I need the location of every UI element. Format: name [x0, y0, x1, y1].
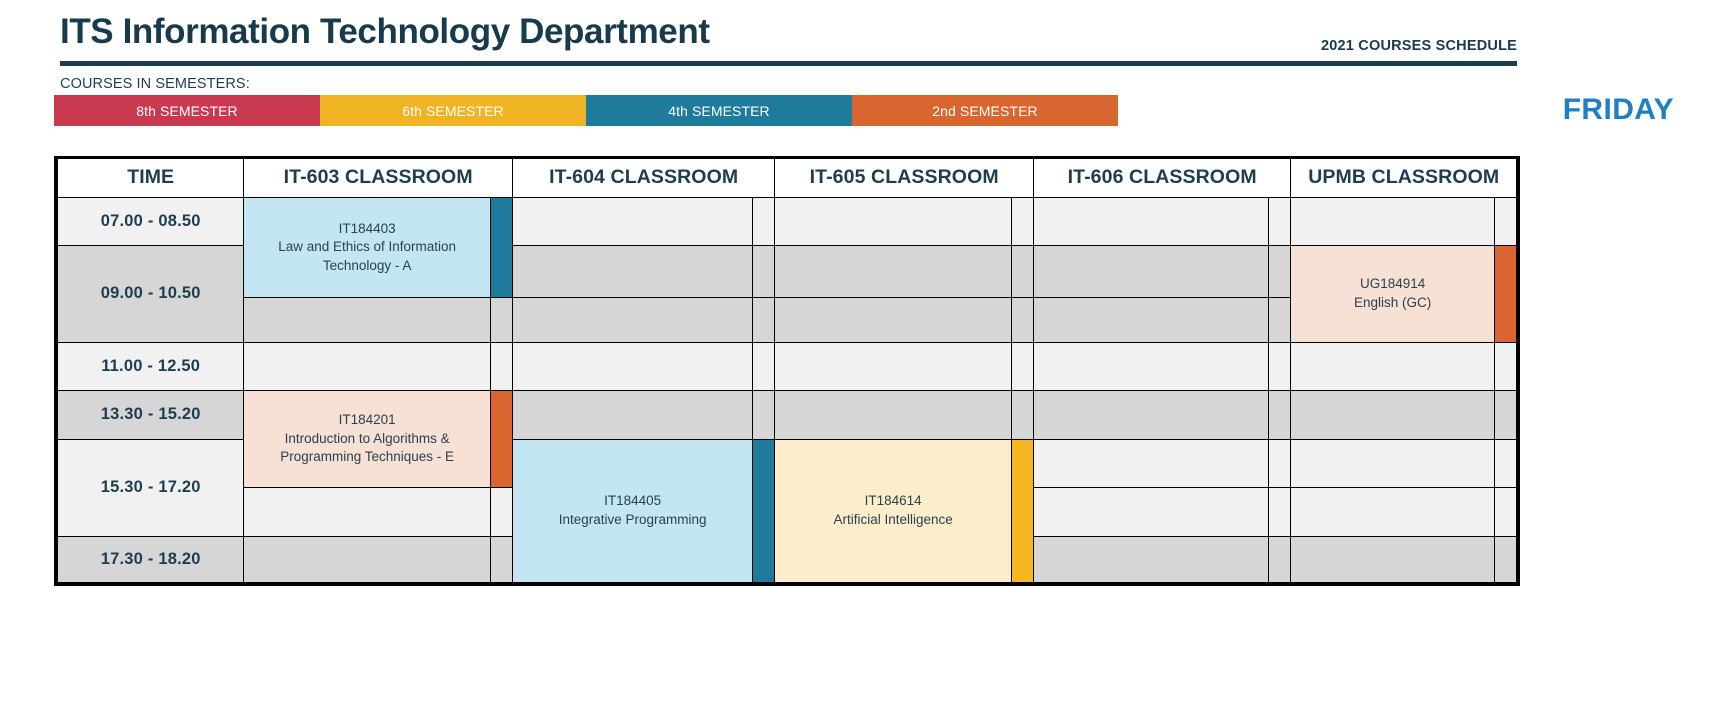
- course-code: UG184914: [1291, 275, 1493, 294]
- course-block-IT184614[interactable]: IT184614 Artificial Intelligence: [775, 439, 1011, 582]
- accent-it605-0900a: [1011, 245, 1033, 297]
- accent-it604-0700: [753, 197, 775, 245]
- page-title: ITS Information Technology Department: [60, 12, 710, 52]
- accent-it605-0700: [1011, 197, 1033, 245]
- accent-upmb-1330: [1494, 391, 1516, 439]
- column-header-upmb: UPMB CLASSROOM: [1291, 159, 1517, 197]
- slot-it603-1730[interactable]: [244, 536, 491, 582]
- course-accent-IT184201: [490, 391, 512, 488]
- legend-caption: COURSES IN SEMESTERS:: [60, 76, 250, 92]
- slot-it603-1100[interactable]: [244, 342, 491, 390]
- slot-upmb-0700[interactable]: [1291, 197, 1494, 245]
- slot-it606-0900a[interactable]: [1033, 245, 1268, 297]
- slot-it606-1100[interactable]: [1033, 342, 1268, 390]
- time-slot-1330: 13.30 - 15.20: [58, 391, 244, 439]
- accent-it606-0900b: [1269, 298, 1291, 342]
- accent-it605-1330: [1011, 391, 1033, 439]
- legend-item-4th[interactable]: 4th SEMESTER: [586, 95, 852, 126]
- course-code: IT184201: [244, 411, 490, 430]
- header-divider: [60, 61, 1517, 66]
- slot-it604-0900b[interactable]: [512, 298, 752, 342]
- schedule-table: TIME IT-603 CLASSROOM IT-604 CLASSROOM I…: [57, 159, 1517, 583]
- accent-it604-0900b: [753, 298, 775, 342]
- course-code: IT184614: [775, 492, 1010, 511]
- accent-it603-1530b: [490, 488, 512, 536]
- slot-upmb-1530b[interactable]: [1291, 488, 1494, 536]
- course-accent-UG184914: [1494, 245, 1516, 342]
- slot-it606-1530a[interactable]: [1033, 439, 1268, 487]
- table-row: 07.00 - 08.50 IT184403 Law and Ethics of…: [58, 197, 1517, 245]
- course-code: IT184405: [513, 492, 752, 511]
- accent-it606-1730: [1269, 536, 1291, 582]
- accent-it606-1100: [1269, 342, 1291, 390]
- accent-upmb-1100: [1494, 342, 1516, 390]
- course-name: English (GC): [1291, 294, 1493, 313]
- slot-it605-0700[interactable]: [775, 197, 1011, 245]
- column-header-it605: IT-605 CLASSROOM: [775, 159, 1034, 197]
- semester-legend: 8th SEMESTER 6th SEMESTER 4th SEMESTER 2…: [54, 95, 1118, 126]
- slot-it606-0700[interactable]: [1033, 197, 1268, 245]
- page-header: ITS Information Technology Department 20…: [60, 14, 1517, 62]
- slot-upmb-1100[interactable]: [1291, 342, 1494, 390]
- accent-upmb-1530a: [1494, 439, 1516, 487]
- accent-it604-1100: [753, 342, 775, 390]
- course-block-IT184405[interactable]: IT184405 Integrative Programming: [512, 439, 752, 582]
- course-code: IT184403: [244, 220, 490, 239]
- slot-it604-1330[interactable]: [512, 391, 752, 439]
- slot-it606-1530b[interactable]: [1033, 488, 1268, 536]
- accent-upmb-0700: [1494, 197, 1516, 245]
- course-name: Integrative Programming: [513, 511, 752, 530]
- accent-it606-0700: [1269, 197, 1291, 245]
- slot-it606-0900b[interactable]: [1033, 298, 1268, 342]
- column-header-it603: IT-603 CLASSROOM: [244, 159, 513, 197]
- table-row: 11.00 - 12.50: [58, 342, 1517, 390]
- slot-it604-0700[interactable]: [512, 197, 752, 245]
- slot-it603-0900b[interactable]: [244, 298, 491, 342]
- table-header-row: TIME IT-603 CLASSROOM IT-604 CLASSROOM I…: [58, 159, 1517, 197]
- time-slot-1100: 11.00 - 12.50: [58, 342, 244, 390]
- column-header-it606: IT-606 CLASSROOM: [1033, 159, 1291, 197]
- day-label: FRIDAY: [1563, 93, 1674, 127]
- course-accent-IT184614: [1011, 439, 1033, 582]
- schedule-year-label: 2021 COURSES SCHEDULE: [1321, 38, 1517, 54]
- time-slot-0900: 09.00 - 10.50: [58, 245, 244, 342]
- slot-it605-0900b[interactable]: [775, 298, 1011, 342]
- slot-it603-1530b[interactable]: [244, 488, 491, 536]
- legend-item-6th[interactable]: 6th SEMESTER: [320, 95, 586, 126]
- course-block-UG184914[interactable]: UG184914 English (GC): [1291, 245, 1494, 342]
- legend-item-8th[interactable]: 8th SEMESTER: [54, 95, 320, 126]
- accent-it603-1730: [490, 536, 512, 582]
- slot-it604-0900a[interactable]: [512, 245, 752, 297]
- time-slot-1530: 15.30 - 17.20: [58, 439, 244, 536]
- schedule-page: ITS Information Technology Department 20…: [0, 0, 1734, 704]
- slot-it605-0900a[interactable]: [775, 245, 1011, 297]
- slot-it605-1100[interactable]: [775, 342, 1011, 390]
- column-header-time: TIME: [58, 159, 244, 197]
- table-row: 13.30 - 15.20 IT184201 Introduction to A…: [58, 391, 1517, 439]
- legend-item-label: 4th SEMESTER: [668, 103, 770, 119]
- course-name: Introduction to Algorithms & Programming…: [244, 430, 490, 467]
- course-block-IT184403[interactable]: IT184403 Law and Ethics of Information T…: [244, 197, 491, 298]
- time-slot-0700: 07.00 - 08.50: [58, 197, 244, 245]
- slot-upmb-1330[interactable]: [1291, 391, 1494, 439]
- slot-it605-1330[interactable]: [775, 391, 1011, 439]
- accent-it606-1530b: [1269, 488, 1291, 536]
- legend-item-label: 2nd SEMESTER: [932, 103, 1037, 119]
- course-name: Law and Ethics of Information Technology…: [244, 238, 490, 275]
- course-accent-IT184403: [490, 197, 512, 298]
- accent-it604-0900a: [753, 245, 775, 297]
- schedule-grid: TIME IT-603 CLASSROOM IT-604 CLASSROOM I…: [54, 156, 1520, 586]
- course-name: Artificial Intelligence: [775, 511, 1010, 530]
- legend-item-label: 6th SEMESTER: [402, 103, 504, 119]
- accent-it606-1530a: [1269, 439, 1291, 487]
- slot-it604-1100[interactable]: [512, 342, 752, 390]
- legend-item-2nd[interactable]: 2nd SEMESTER: [852, 95, 1118, 126]
- accent-it603-1100: [490, 342, 512, 390]
- course-accent-IT184405: [753, 439, 775, 582]
- accent-it604-1330: [753, 391, 775, 439]
- accent-upmb-1530b: [1494, 488, 1516, 536]
- accent-it606-1330: [1269, 391, 1291, 439]
- accent-it606-0900a: [1269, 245, 1291, 297]
- course-block-IT184201[interactable]: IT184201 Introduction to Algorithms & Pr…: [244, 391, 491, 488]
- accent-it605-0900b: [1011, 298, 1033, 342]
- slot-upmb-1730[interactable]: [1291, 536, 1494, 582]
- legend-item-label: 8th SEMESTER: [136, 103, 238, 119]
- slot-upmb-1530a[interactable]: [1291, 439, 1494, 487]
- accent-it605-1100: [1011, 342, 1033, 390]
- accent-upmb-1730: [1494, 536, 1516, 582]
- slot-it606-1730[interactable]: [1033, 536, 1268, 582]
- slot-it606-1330[interactable]: [1033, 391, 1268, 439]
- accent-it603-0900b: [490, 298, 512, 342]
- column-header-it604: IT-604 CLASSROOM: [512, 159, 775, 197]
- time-slot-1730: 17.30 - 18.20: [58, 536, 244, 582]
